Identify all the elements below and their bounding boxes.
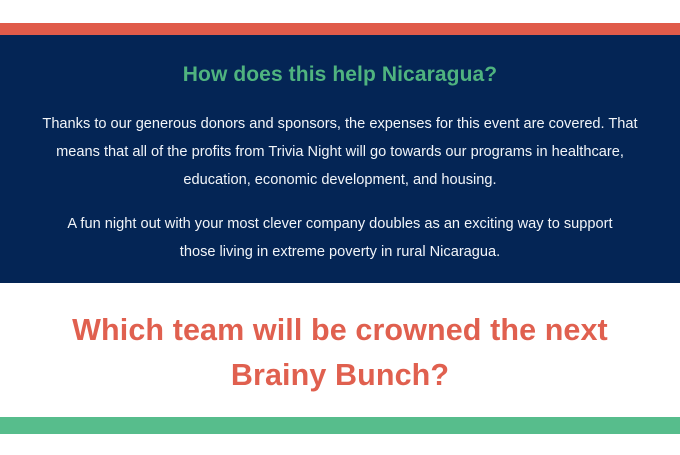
page-title: Which team will be crowned the next Brai… xyxy=(40,308,640,398)
promo-poster: How does this help Nicaragua? Thanks to … xyxy=(0,0,680,455)
top-white-spacer xyxy=(0,0,680,23)
bottom-white-spacer xyxy=(0,434,680,455)
body-paragraph-2: A fun night out with your most clever co… xyxy=(50,210,630,266)
green-divider-bar xyxy=(0,417,680,434)
headline-section: Which team will be crowned the next Brai… xyxy=(0,283,680,417)
body-paragraph-1: Thanks to our generous donors and sponso… xyxy=(29,110,651,194)
section-heading: How does this help Nicaragua? xyxy=(183,62,497,87)
orange-divider-bar xyxy=(0,23,680,35)
navy-info-panel: How does this help Nicaragua? Thanks to … xyxy=(0,35,680,283)
